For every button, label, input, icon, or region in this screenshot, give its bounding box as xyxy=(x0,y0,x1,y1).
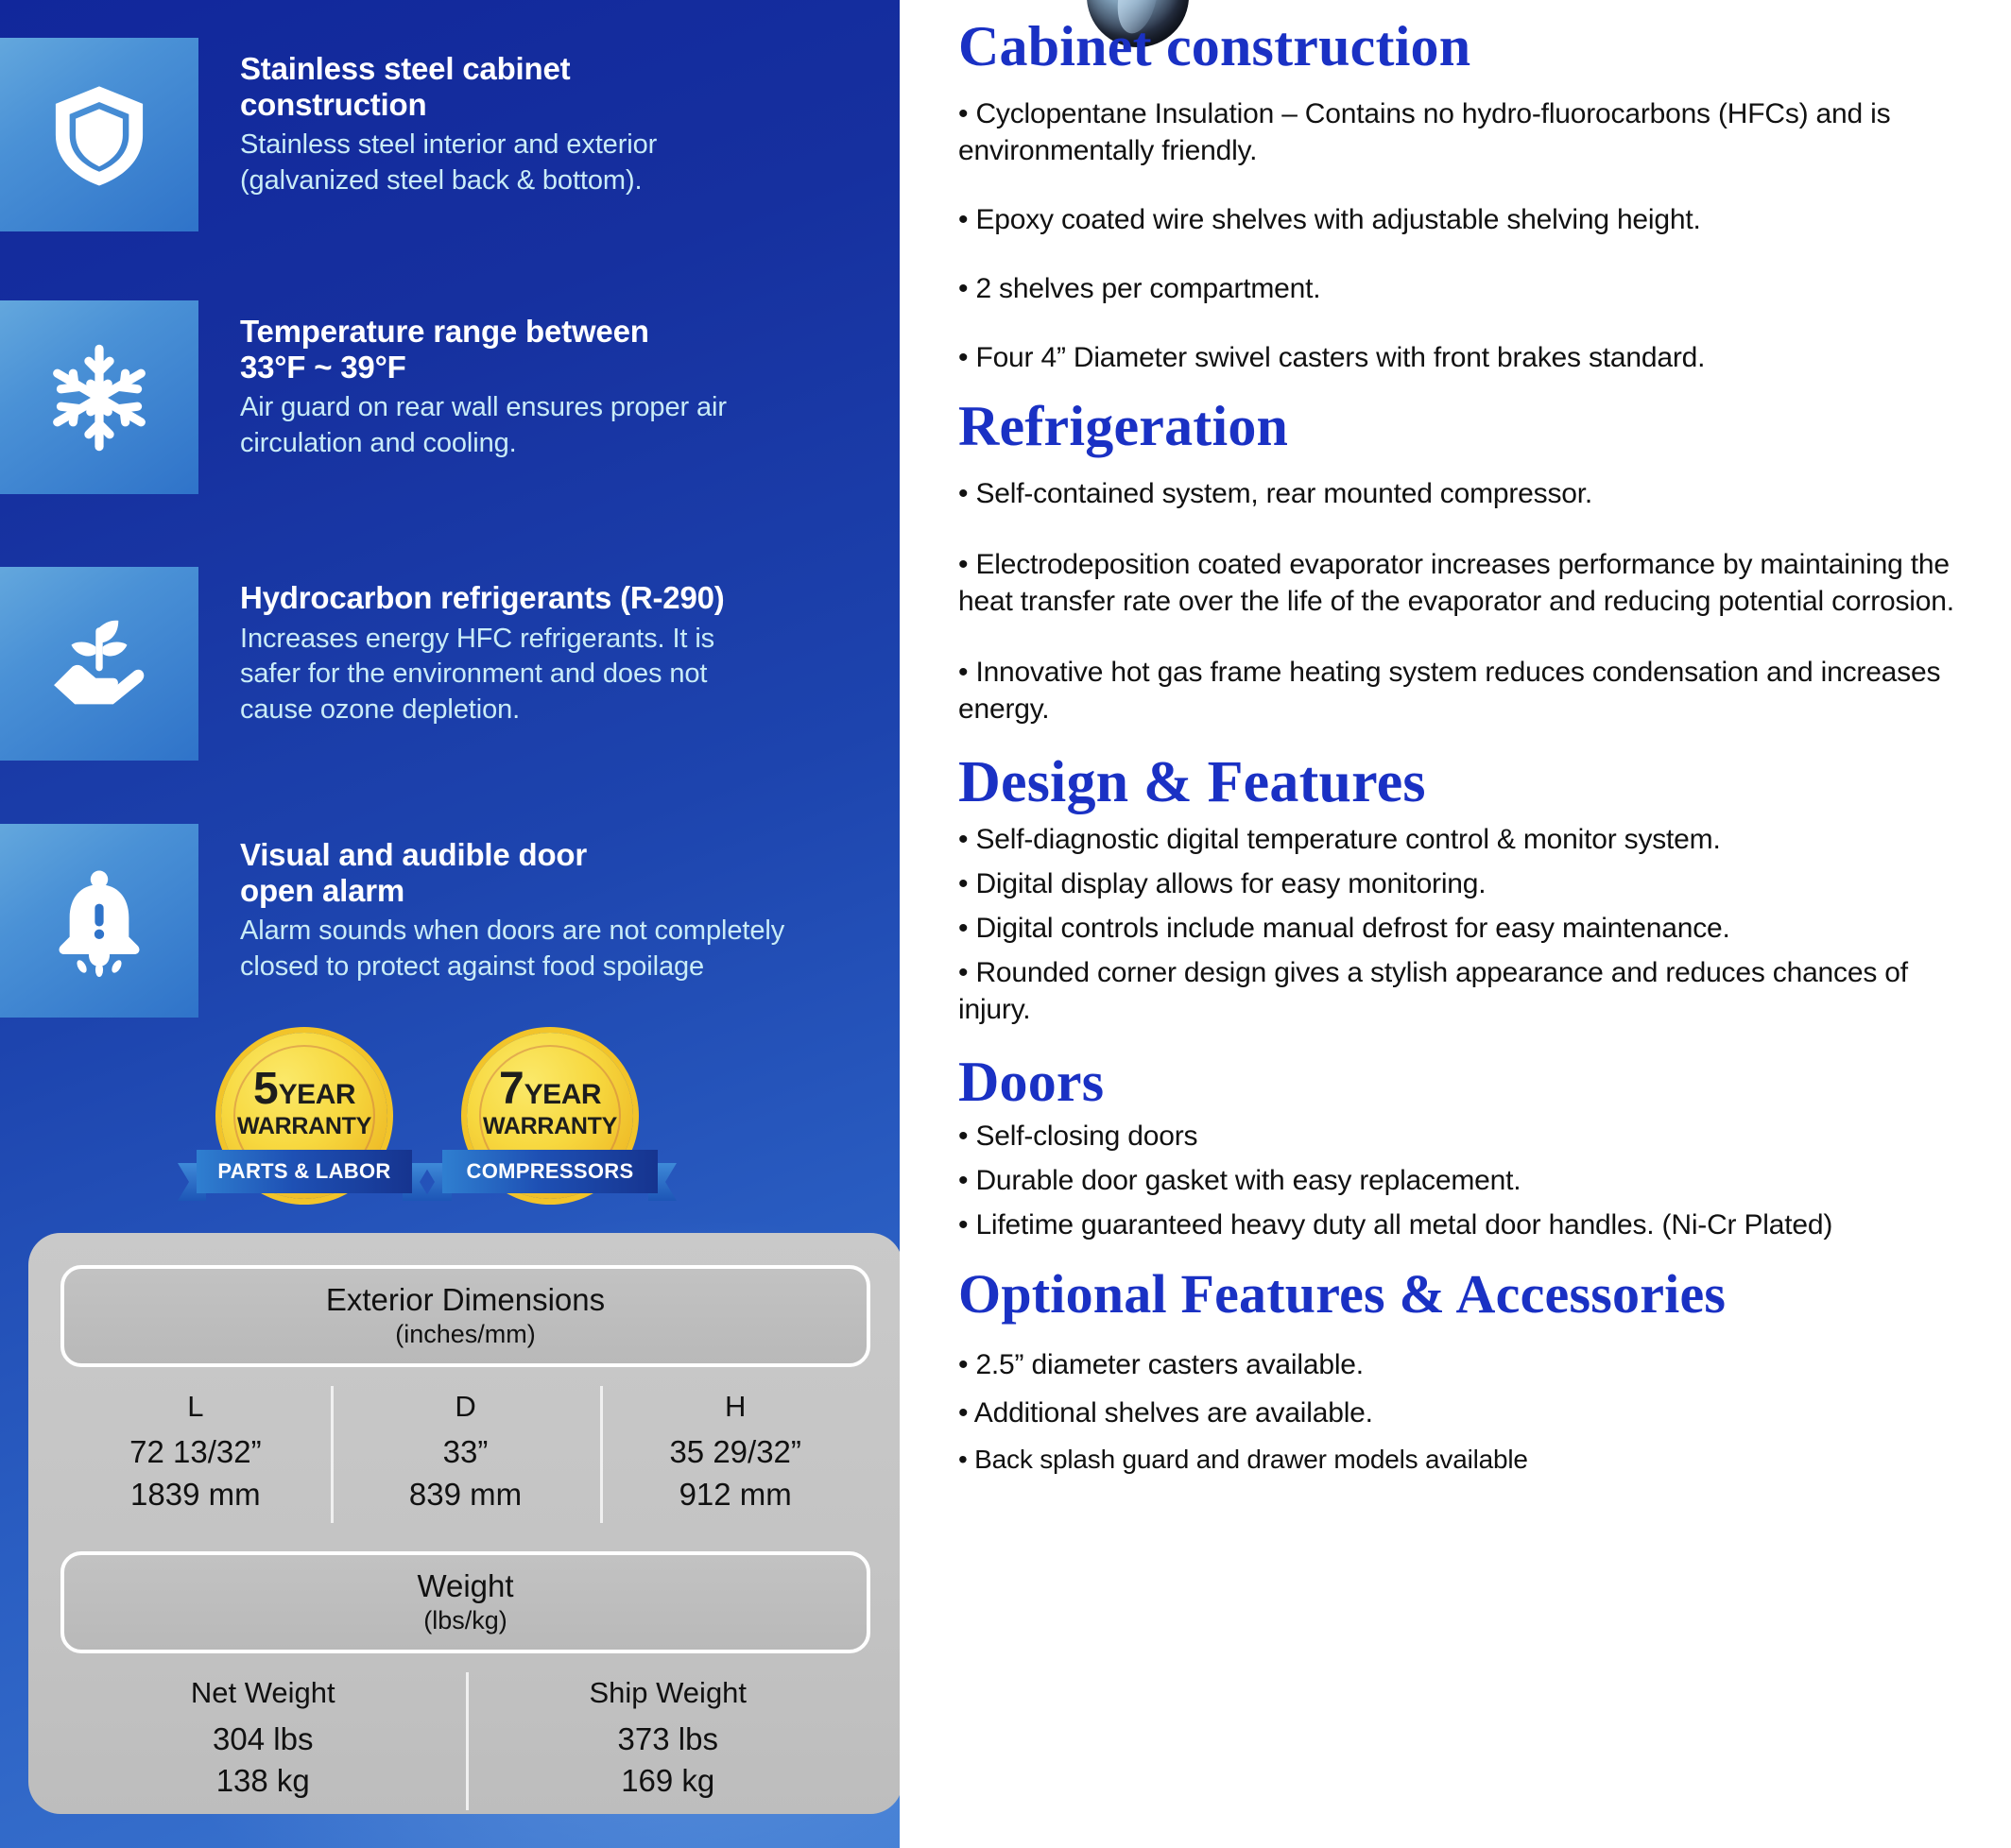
column-value-mm: 839 mm xyxy=(335,1474,597,1516)
weight-column-net: Net Weight 304 lbs 138 kg xyxy=(60,1665,466,1817)
feature-block-hydrocarbon-refrigerants: Hydrocarbon refrigerants (R-290) Increas… xyxy=(0,567,900,761)
feature-block-stainless-steel: Stainless steel cabinet construction Sta… xyxy=(0,38,900,231)
plant-in-hand-icon xyxy=(43,608,155,720)
bullet-item: • Rounded corner design gives a stylish … xyxy=(958,954,1975,1028)
column-value-inches: 35 29/32” xyxy=(604,1431,867,1474)
warranty-badge-parts-labor: 5 YEAR WARRANTY PARTS & LABOR xyxy=(210,1033,399,1212)
column-value-kg: 169 kg xyxy=(470,1760,868,1803)
bullet-item: • Digital display allows for easy monito… xyxy=(958,865,1975,902)
feature-title: Stainless steel cabinet construction xyxy=(240,51,657,122)
badge-ribbon-label: COMPRESSORS xyxy=(442,1150,658,1193)
exterior-dimensions-header: Exterior Dimensions (inches/mm) xyxy=(60,1265,870,1367)
left-feature-panel: Stainless steel cabinet construction Sta… xyxy=(0,0,900,1848)
section-refrigeration: Refrigeration • Self-contained system, r… xyxy=(958,376,1975,727)
badge-ribbon-label: PARTS & LABOR xyxy=(197,1150,412,1193)
bullet-item: • Digital controls include manual defros… xyxy=(958,910,1975,947)
bullet-item: • Back splash guard and drawer models av… xyxy=(958,1443,1975,1477)
bullet-item: • Epoxy coated wire shelves with adjusta… xyxy=(958,201,1975,238)
section-heading: Design & Features xyxy=(958,752,1975,813)
column-value-inches: 33” xyxy=(335,1431,597,1474)
feature-description: Air guard on rear wall ensures proper ai… xyxy=(240,390,727,461)
bullet-item: • Durable door gasket with easy replacem… xyxy=(958,1162,1975,1199)
alarm-bell-icon-tile xyxy=(0,824,198,1018)
header-units: (lbs/kg) xyxy=(423,1605,507,1635)
right-specifications-panel: Cabinet construction • Cyclopentane Insu… xyxy=(900,0,2011,1848)
alarm-bell-icon xyxy=(43,865,155,977)
feature-description: Increases energy HFC refrigerants. It is… xyxy=(240,622,725,728)
dimension-column-l: L 72 13/32” 1839 mm xyxy=(60,1378,331,1531)
section-heading: Doors xyxy=(958,1052,1975,1112)
badge-warranty-label: WARRANTY xyxy=(483,1113,617,1140)
bullet-item: • Innovative hot gas frame heating syste… xyxy=(958,654,1975,727)
warranty-badges: 5 YEAR WARRANTY PARTS & LABOR 7 YEAR WAR… xyxy=(210,1033,701,1212)
bullet-item: • 2.5” diameter casters available. xyxy=(958,1346,1975,1383)
column-value-lbs: 304 lbs xyxy=(64,1719,462,1761)
badge-warranty-label: WARRANTY xyxy=(237,1113,371,1140)
header-title: Exterior Dimensions xyxy=(326,1283,605,1317)
bullet-item: • Self-diagnostic digital temperature co… xyxy=(958,821,1975,858)
bullet-item: • 2 shelves per compartment. xyxy=(958,270,1975,307)
column-value-mm: 1839 mm xyxy=(64,1474,327,1516)
column-value-inches: 72 13/32” xyxy=(64,1431,327,1474)
dimension-column-d: D 33” 839 mm xyxy=(331,1378,601,1531)
badge-years-number: 7 xyxy=(499,1067,524,1112)
dimensions-columns: L 72 13/32” 1839 mm D 33” 839 mm H 35 29… xyxy=(60,1378,870,1531)
header-title: Weight xyxy=(417,1569,513,1603)
bullet-item: • Cyclopentane Insulation – Contains no … xyxy=(958,95,1975,169)
feature-description: Alarm sounds when doors are not complete… xyxy=(240,914,784,984)
bullet-item: • Self-contained system, rear mounted co… xyxy=(958,475,1975,512)
column-label: D xyxy=(335,1388,597,1426)
bullet-item: • Additional shelves are available. xyxy=(958,1395,1975,1431)
snowflake-icon-tile xyxy=(0,300,198,494)
feature-description: Stainless steel interior and exterior (g… xyxy=(240,128,657,198)
plant-in-hand-icon-tile xyxy=(0,567,198,761)
column-value-mm: 912 mm xyxy=(604,1474,867,1516)
bullet-item: • Self-closing doors xyxy=(958,1118,1975,1155)
column-label: L xyxy=(64,1388,327,1426)
section-heading: Cabinet construction xyxy=(958,17,1975,77)
header-units: (inches/mm) xyxy=(395,1319,536,1349)
bullet-item: • Electrodeposition coated evaporator in… xyxy=(958,546,1975,620)
section-doors: Doors • Self-closing doors • Durable doo… xyxy=(958,1028,1975,1243)
section-heading: Refrigeration xyxy=(958,397,1975,456)
shield-icon xyxy=(43,79,155,191)
section-optional-features: Optional Features & Accessories • 2.5” d… xyxy=(958,1243,1975,1477)
feature-title: Hydrocarbon refrigerants (R-290) xyxy=(240,580,725,616)
section-heading: Optional Features & Accessories xyxy=(958,1266,1975,1324)
warranty-badge-compressors: 7 YEAR WARRANTY COMPRESSORS xyxy=(455,1033,645,1212)
shield-icon-tile xyxy=(0,38,198,231)
feature-block-door-alarm: Visual and audible door open alarm Alarm… xyxy=(0,824,900,1018)
badge-year-label: YEAR xyxy=(279,1081,355,1109)
weight-header: Weight (lbs/kg) xyxy=(60,1551,870,1653)
column-label: Ship Weight xyxy=(470,1674,868,1712)
bullet-item: • Lifetime guaranteed heavy duty all met… xyxy=(958,1206,1975,1243)
dimension-column-h: H 35 29/32” 912 mm xyxy=(600,1378,870,1531)
feature-block-temperature-range: Temperature range between 33°F ~ 39°F Ai… xyxy=(0,300,900,494)
section-cabinet-construction: Cabinet construction • Cyclopentane Insu… xyxy=(958,0,1975,376)
column-value-kg: 138 kg xyxy=(64,1760,462,1803)
weight-column-ship: Ship Weight 373 lbs 169 kg xyxy=(466,1665,871,1817)
bullet-item: • Four 4” Diameter swivel casters with f… xyxy=(958,339,1975,376)
column-value-lbs: 373 lbs xyxy=(470,1719,868,1761)
section-design-features: Design & Features • Self-diagnostic digi… xyxy=(958,727,1975,1028)
feature-title: Temperature range between 33°F ~ 39°F xyxy=(240,314,727,385)
weight-columns: Net Weight 304 lbs 138 kg Ship Weight 37… xyxy=(60,1665,870,1817)
badge-year-label: YEAR xyxy=(524,1081,601,1109)
badge-years-number: 5 xyxy=(253,1067,279,1112)
snowflake-icon xyxy=(43,342,155,453)
specifications-card: Exterior Dimensions (inches/mm) L 72 13/… xyxy=(28,1233,900,1814)
column-label: H xyxy=(604,1388,867,1426)
feature-title: Visual and audible door open alarm xyxy=(240,837,784,908)
column-label: Net Weight xyxy=(64,1674,462,1712)
